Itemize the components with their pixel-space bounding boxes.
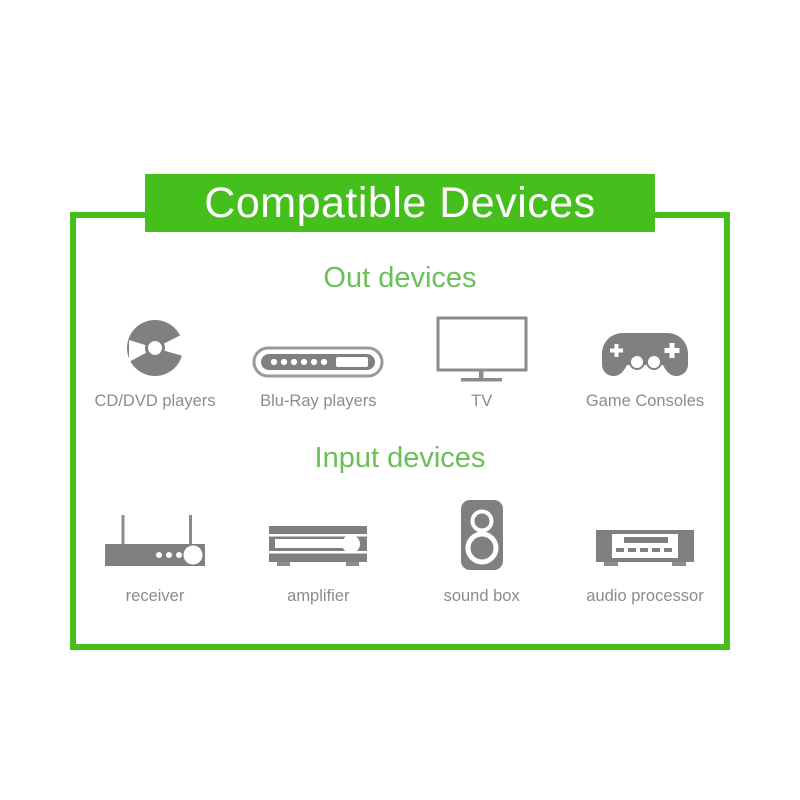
- section-heading-out-devices: Out devices: [70, 264, 730, 293]
- page-title: Compatible Devices: [204, 182, 595, 225]
- compatible-devices-infographic: Compatible Devices Out devices: [0, 0, 800, 800]
- device-label: Blu-Ray players: [260, 393, 376, 410]
- device-label: CD/DVD players: [94, 393, 215, 410]
- bluray-player-icon: [252, 306, 384, 384]
- device-item-amplifier: amplifier: [243, 496, 393, 605]
- device-item-receiver: receiver: [80, 496, 230, 605]
- device-item-cd-dvd-players: CD/DVD players: [80, 306, 230, 410]
- device-label: Game Consoles: [586, 393, 704, 410]
- device-label: amplifier: [287, 588, 349, 605]
- out-devices-row: CD/DVD players Blu-Ray players: [80, 306, 720, 410]
- device-label: sound box: [444, 588, 520, 605]
- cd-disc-icon: [119, 306, 191, 384]
- device-item-tv: TV: [407, 306, 557, 410]
- title-banner: Compatible Devices: [145, 174, 655, 232]
- tv-monitor-icon: [432, 306, 532, 384]
- device-item-sound-box: sound box: [407, 496, 557, 605]
- device-label: audio processor: [586, 588, 703, 605]
- av-receiver-icon: [96, 496, 214, 574]
- device-label: receiver: [126, 588, 185, 605]
- amplifier-icon: [263, 496, 373, 574]
- device-item-audio-processor: audio processor: [570, 496, 720, 605]
- speaker-icon: [451, 496, 513, 574]
- audio-processor-icon: [590, 496, 700, 574]
- device-label: TV: [471, 393, 492, 410]
- input-devices-row: receiver amplifier: [80, 496, 720, 605]
- section-heading-input-devices: Input devices: [70, 444, 730, 473]
- device-item-bluray-players: Blu-Ray players: [243, 306, 393, 410]
- game-controller-icon: [593, 306, 697, 384]
- device-item-game-consoles: Game Consoles: [570, 306, 720, 410]
